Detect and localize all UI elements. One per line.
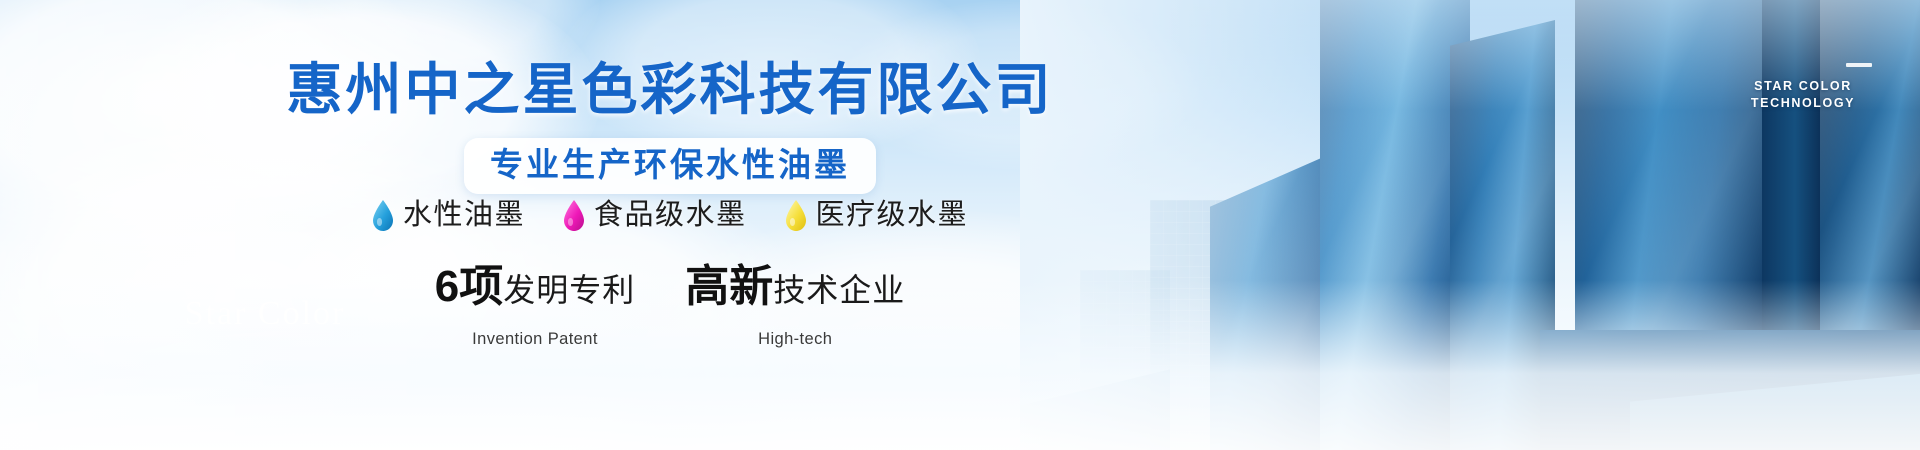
feature-label: 医疗级水墨 [816, 198, 969, 232]
brand-tick-mark [1846, 63, 1872, 67]
feature-list: 水性油墨 食品级水墨 [0, 198, 1340, 232]
stats-list: 6项发明专利 Invention Patent 高新技术企业 High-tech [0, 262, 1340, 349]
stat-rest: 发明专利 [503, 272, 635, 308]
subtitle-container: 专业生产环保水性油墨 [0, 138, 1340, 194]
stat-english-label: High-tech [685, 329, 905, 349]
stat-english-label: Invention Patent [435, 329, 636, 349]
stat-highlight: 高新 [685, 262, 773, 311]
stat-main-line: 高新技术企业 [685, 262, 905, 326]
brand-line-2: TECHNOLOGY [1728, 95, 1878, 112]
company-hero-banner: STAR COLOR TECHNOLOGY Star Color 惠州中之星色彩… [0, 0, 1920, 450]
stat-highlight: 6项 [435, 262, 503, 311]
page-title: 惠州中之星色彩科技有限公司 [0, 59, 1340, 121]
feature-label: 食品级水墨 [594, 198, 747, 232]
banner-content: 惠州中之星色彩科技有限公司 专业生产环保水性油墨 水性油 [0, 0, 1400, 450]
building-right-edge [1820, 0, 1920, 450]
stat-rest: 技术企业 [773, 272, 905, 308]
building-tower-edge [1762, 0, 1822, 450]
building-foreground [1630, 372, 1920, 450]
subtitle-badge: 专业生产环保水性油墨 [464, 138, 876, 194]
building-tall [1450, 20, 1555, 450]
brand-line-1: STAR COLOR [1728, 78, 1878, 95]
building-main-tower [1575, 0, 1775, 450]
feature-item-water-ink: 水性油墨 [372, 198, 525, 232]
water-drop-icon [785, 200, 807, 231]
water-drop-icon [372, 200, 394, 231]
feature-item-medical-grade-ink: 医疗级水墨 [785, 198, 969, 232]
stat-item-high-tech: 高新技术企业 High-tech [685, 262, 905, 349]
feature-item-food-grade-ink: 食品级水墨 [563, 198, 747, 232]
stat-main-line: 6项发明专利 [435, 262, 636, 326]
building-podium [1540, 330, 1920, 450]
brand-watermark-right: STAR COLOR TECHNOLOGY [1728, 78, 1878, 112]
water-drop-icon [563, 200, 585, 231]
stat-item-invention-patent: 6项发明专利 Invention Patent [435, 262, 636, 349]
feature-label: 水性油墨 [403, 198, 525, 232]
